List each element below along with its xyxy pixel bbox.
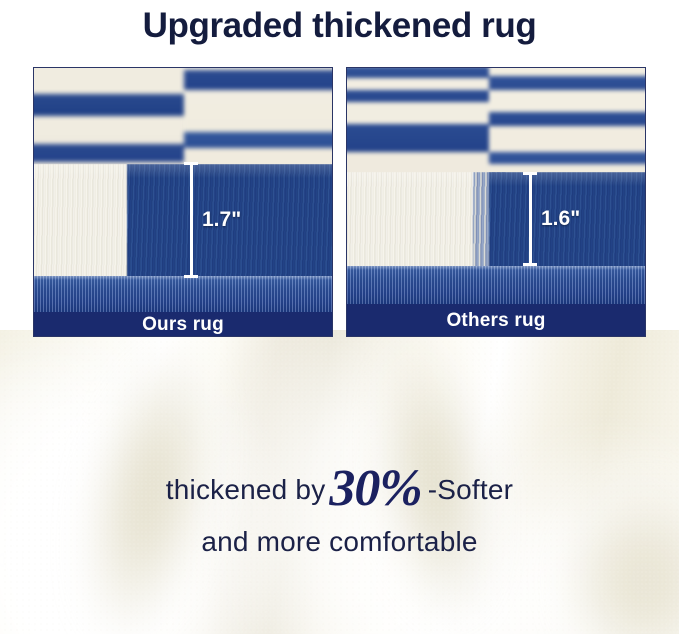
panel-label-others: Others rug <box>446 310 545 332</box>
product-comparison-poster: Upgraded thickened rug 1.7" <box>0 0 679 634</box>
measurement-value-ours: 1.7" <box>202 208 241 232</box>
ruler-cap-bottom <box>184 275 198 278</box>
rug-stripe-block-right <box>489 68 645 180</box>
comparison-panel-ours: 1.7" Ours rug <box>33 67 333 337</box>
ruler-cap-bottom <box>523 263 537 266</box>
i-beam-ruler-icon <box>184 162 198 278</box>
ruler-bar <box>190 162 193 278</box>
panel-label-bar-ours: Ours rug <box>34 312 332 337</box>
rug-pile-ours <box>34 164 332 280</box>
rug-surface-others <box>347 68 645 180</box>
rug-stripe-block-right <box>184 68 332 172</box>
caption-suffix: -Softer <box>428 474 513 505</box>
ruler-bar <box>529 172 532 266</box>
measurement-value-others: 1.6" <box>541 207 580 231</box>
rug-stripe-block-left <box>347 68 493 180</box>
rug-pile-others <box>347 172 645 270</box>
caption-prefix: thickened by <box>166 474 326 505</box>
comparison-panel-others: 1.6" Others rug <box>346 67 646 337</box>
caption-percent-value: 30% <box>325 460 427 517</box>
marketing-caption: thickened by30%-Softer and more comforta… <box>0 462 679 556</box>
panel-label-ours: Ours rug <box>142 314 224 336</box>
caption-line-1: thickened by30%-Softer <box>0 462 679 517</box>
caption-line-2: and more comfortable <box>0 527 679 556</box>
rug-pile-cream-fibers <box>347 172 489 270</box>
page-title: Upgraded thickened rug <box>0 2 679 50</box>
panel-label-bar-others: Others rug <box>347 304 645 337</box>
i-beam-ruler-icon <box>523 172 537 266</box>
rug-binding-edge-others <box>347 266 645 304</box>
rug-surface-ours <box>34 68 332 172</box>
comparison-panels: 1.7" Ours rug <box>33 67 646 337</box>
rug-stripe-block-left <box>34 68 188 172</box>
measurement-marker-ours: 1.7" <box>184 162 241 278</box>
rug-pile-cream-fibers <box>34 164 127 280</box>
rug-binding-edge-ours <box>34 276 332 312</box>
measurement-marker-others: 1.6" <box>523 172 580 266</box>
